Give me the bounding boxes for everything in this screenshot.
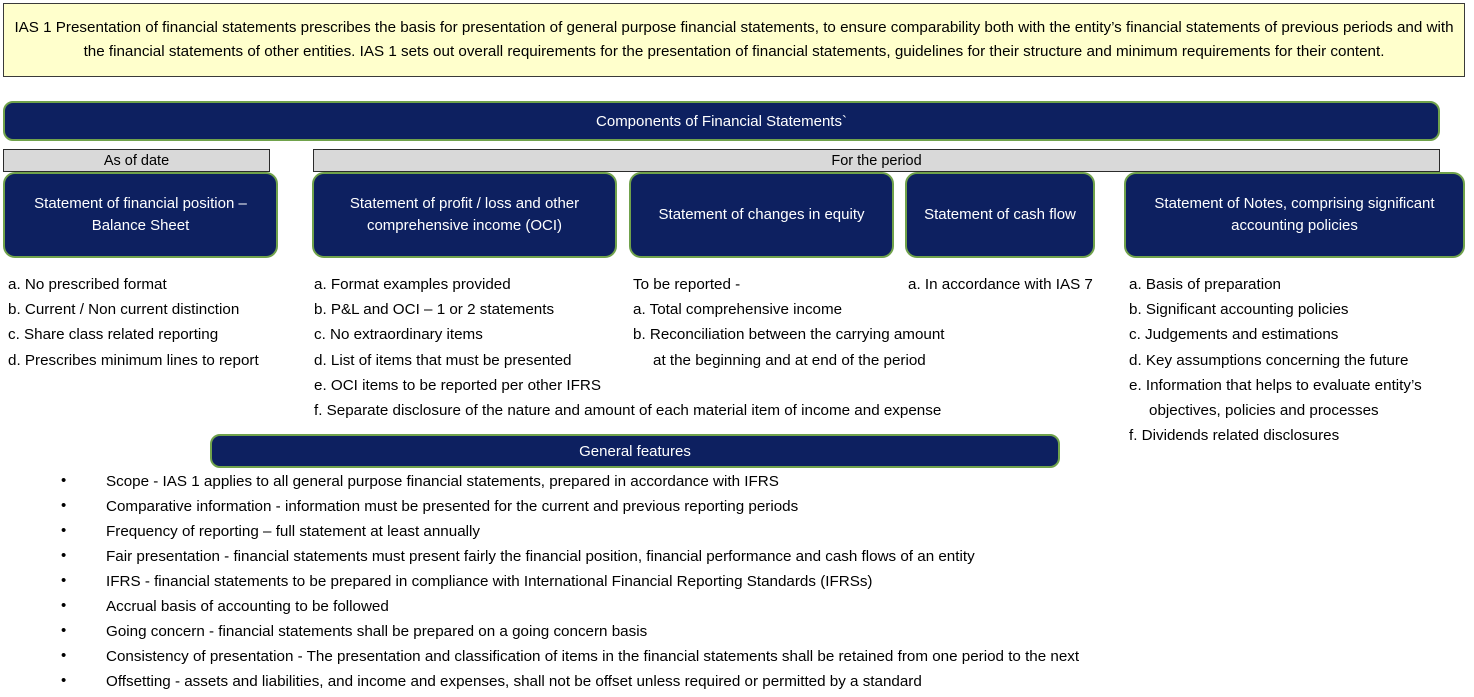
general-feature-text: IFRS - financial statements to be prepar… [106, 572, 873, 591]
general-feature-item: •Consistency of presentation - The prese… [55, 647, 1455, 672]
general-features-banner: General features [210, 434, 1060, 468]
detail-row: f. Separate disclosure of the nature and… [314, 398, 1044, 423]
intro-text: IAS 1 Presentation of financial statemen… [4, 16, 1464, 63]
general-feature-text: Consistency of presentation - The presen… [106, 647, 1079, 666]
bullet-icon: • [55, 647, 106, 666]
bullet-icon: • [55, 522, 106, 541]
general-feature-item: •Going concern - financial statements sh… [55, 622, 1455, 647]
statement-box-changes-in-equity: Statement of changes in equity [629, 172, 894, 258]
statement-box-notes: Statement of Notes, comprising significa… [1124, 172, 1465, 258]
general-feature-text: Frequency of reporting – full statement … [106, 522, 480, 541]
detail-row: d. Key assumptions concerning the future [1129, 348, 1474, 373]
general-feature-text: Fair presentation - financial statements… [106, 547, 975, 566]
general-feature-text: Scope - IAS 1 applies to all general pur… [106, 472, 779, 491]
general-feature-item: •Accrual basis of accounting to be follo… [55, 597, 1455, 622]
bullet-icon: • [55, 472, 106, 491]
detail-row: b. Current / Non current distinction [8, 297, 308, 322]
general-features-bullet-list: •Scope - IAS 1 applies to all general pu… [55, 472, 1455, 697]
general-feature-text: Offsetting - assets and liabilities, and… [106, 672, 922, 691]
detail-list-cash-flow: a. In accordance with IAS 7 [908, 272, 1123, 297]
bullet-icon: • [55, 547, 106, 566]
general-feature-text: Going concern - financial statements sha… [106, 622, 647, 641]
as-of-date-header-bar: As of date [3, 149, 270, 172]
general-feature-item: •Offsetting - assets and liabilities, an… [55, 672, 1455, 697]
intro-callout-box: IAS 1 Presentation of financial statemen… [3, 3, 1465, 77]
statement-box-profit-loss-oci: Statement of profit / loss and other com… [312, 172, 617, 258]
general-feature-text: Accrual basis of accounting to be follow… [106, 597, 389, 616]
general-feature-item: •Comparative information - information m… [55, 497, 1455, 522]
bullet-icon: • [55, 497, 106, 516]
detail-list-balance-sheet: a. No prescribed formatb. Current / Non … [8, 272, 308, 373]
for-the-period-header-bar: For the period [313, 149, 1440, 172]
detail-row: e. OCI items to be reported per other IF… [314, 373, 1044, 398]
detail-row: a. Basis of preparation [1129, 272, 1474, 297]
general-feature-item: •IFRS - financial statements to be prepa… [55, 572, 1455, 597]
detail-row: c. Judgements and estimations [1129, 322, 1474, 347]
bullet-icon: • [55, 622, 106, 641]
detail-row: b. Reconciliation between the carrying a… [633, 322, 1053, 347]
detail-list-notes: a. Basis of preparationb. Significant ac… [1129, 272, 1474, 449]
statement-box-balance-sheet: Statement of financial position – Balanc… [3, 172, 278, 258]
detail-row: a. No prescribed format [8, 272, 308, 297]
bullet-icon: • [55, 672, 106, 691]
detail-row: a. In accordance with IAS 7 [908, 272, 1123, 297]
general-feature-text: Comparative information - information mu… [106, 497, 798, 516]
detail-row: e. Information that helps to evaluate en… [1129, 373, 1474, 398]
general-feature-item: •Fair presentation - financial statement… [55, 547, 1455, 572]
detail-row: objectives, policies and processes [1129, 398, 1474, 423]
bullet-icon: • [55, 597, 106, 616]
detail-row: d. Prescribes minimum lines to report [8, 348, 308, 373]
bullet-icon: • [55, 572, 106, 591]
general-feature-item: •Frequency of reporting – full statement… [55, 522, 1455, 547]
general-feature-item: •Scope - IAS 1 applies to all general pu… [55, 472, 1455, 497]
detail-row: f. Dividends related disclosures [1129, 423, 1474, 448]
detail-row: at the beginning and at end of the perio… [633, 348, 1053, 373]
components-of-financial-statements-banner: Components of Financial Statements` [3, 101, 1440, 141]
detail-row: c. Share class related reporting [8, 322, 308, 347]
detail-row: a. Total comprehensive income [633, 297, 1053, 322]
statement-box-cash-flow: Statement of cash flow [905, 172, 1095, 258]
detail-row: b. Significant accounting policies [1129, 297, 1474, 322]
